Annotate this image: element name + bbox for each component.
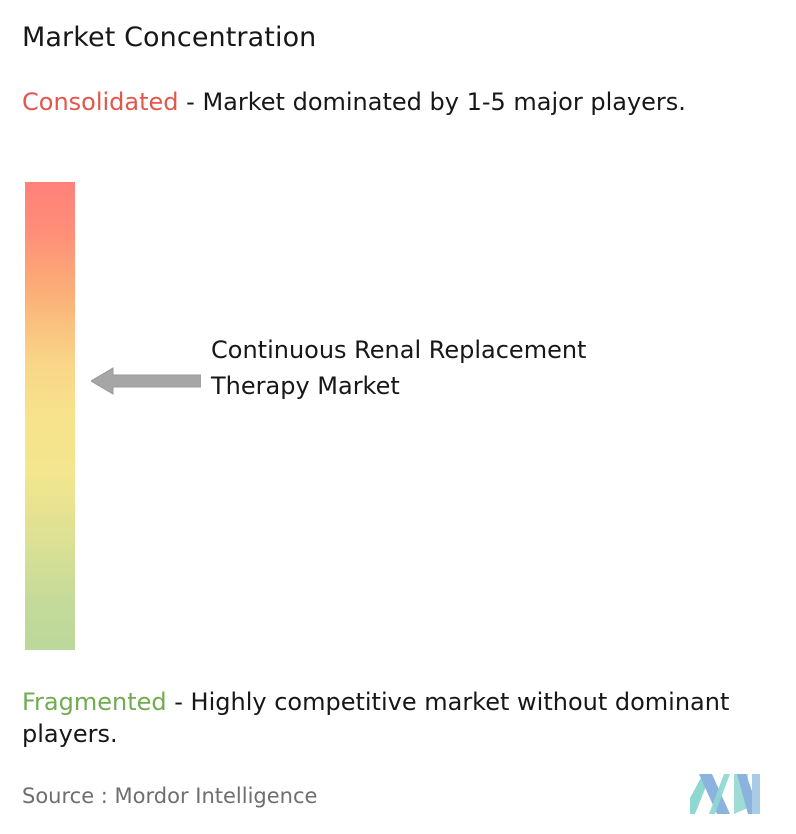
mordor-intelligence-logo-icon xyxy=(690,768,764,814)
callout-market-label: Continuous Renal Replacement Therapy Mar… xyxy=(211,332,611,404)
concentration-gradient-bar xyxy=(25,182,75,650)
source-attribution: Source : Mordor Intelligence xyxy=(22,783,317,809)
legend-consolidated-keyword: Consolidated xyxy=(22,88,179,116)
page-title: Market Concentration xyxy=(22,21,316,55)
callout-arrow-icon xyxy=(91,366,201,396)
legend-fragmented-keyword: Fragmented xyxy=(22,688,167,716)
legend-consolidated-description: - Market dominated by 1-5 major players. xyxy=(179,88,686,116)
legend-consolidated: Consolidated - Market dominated by 1-5 m… xyxy=(22,86,770,118)
legend-fragmented: Fragmented - Highly competitive market w… xyxy=(22,686,782,750)
